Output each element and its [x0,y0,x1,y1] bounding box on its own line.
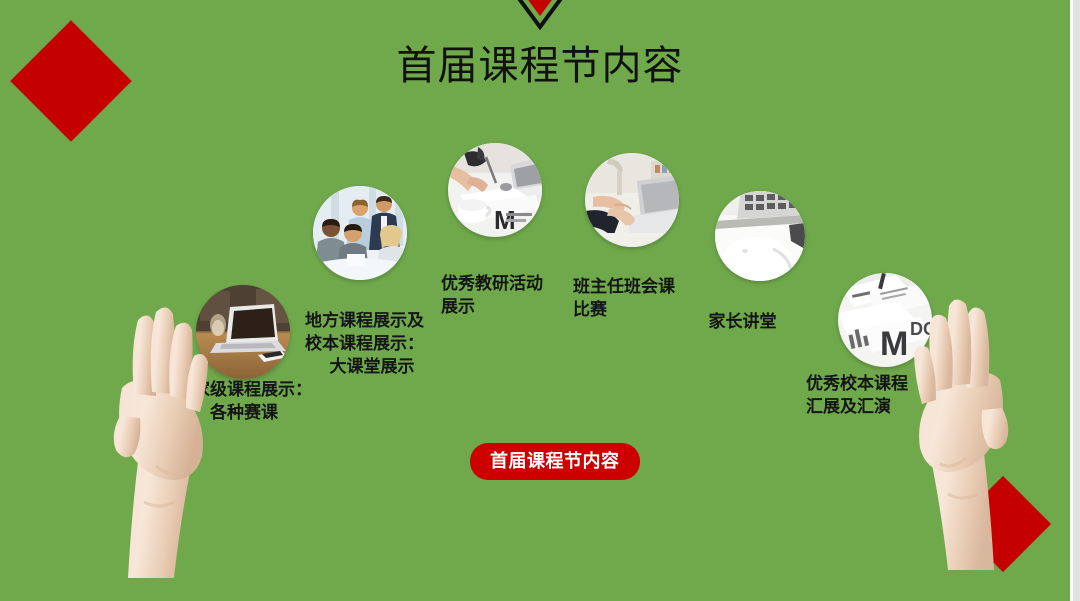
step-image-local-school [313,186,407,280]
down-triangle-marker-icon [491,0,589,30]
svg-text:M: M [880,325,908,363]
step-label-school-course-show: 优秀校本课程 汇展及汇演 [806,372,918,418]
right-edge-strip [1073,0,1080,601]
step-label-teaching-research: 优秀教研活动 展示 [441,272,561,318]
step-image-class-meeting [585,153,679,247]
step-image-parent-lecture [715,191,805,281]
status-badge: 首届课程节内容 [470,443,640,480]
open-hand-right [906,288,1018,588]
open-hand-left [104,296,216,596]
step-label-parent-lecture: 家长讲堂 [700,310,785,333]
step-label-class-meeting: 班主任班会课 比赛 [573,275,683,321]
step-label-local-school: 地方课程展示及 校本课程展示： 大课堂展示 [305,309,439,378]
step-image-teaching-research: M [448,143,542,237]
page-title: 首届课程节内容 [0,40,1080,92]
slide-canvas: 首届课程节内容 [0,0,1080,601]
